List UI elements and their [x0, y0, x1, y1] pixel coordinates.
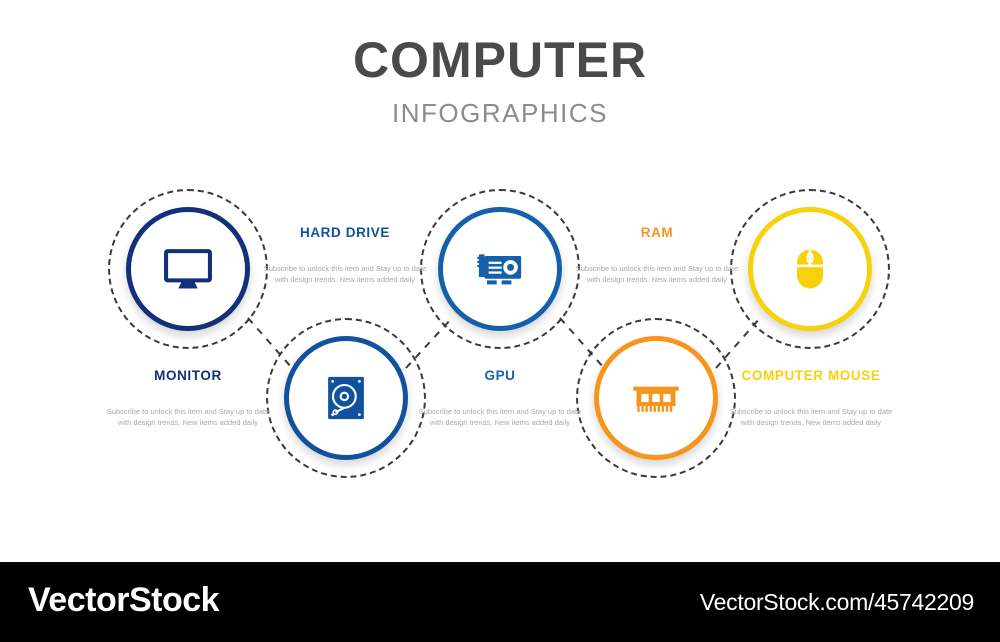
info-block-monitor: MONITOR Subscribe to unlock this item an… [103, 368, 273, 428]
hard-drive-circle[interactable] [284, 336, 408, 460]
gpu-circle[interactable] [438, 207, 562, 331]
monitor-circle[interactable] [126, 207, 250, 331]
node-computer-mouse[interactable] [730, 189, 890, 349]
node-ram[interactable] [576, 318, 736, 478]
description-ram: Subscribe to unlock this item and Stay u… [572, 240, 742, 285]
info-block-hard-drive: HARD DRIVE Subscribe to unlock this item… [260, 225, 430, 285]
node-monitor[interactable] [108, 189, 268, 349]
info-block-computer-mouse: COMPUTER MOUSE Subscribe to unlock this … [726, 368, 896, 428]
computer-mouse-circle[interactable] [748, 207, 872, 331]
description-hard-drive: Subscribe to unlock this item and Stay u… [260, 240, 430, 285]
description-monitor: Subscribe to unlock this item and Stay u… [103, 383, 273, 428]
node-gpu[interactable] [420, 189, 580, 349]
info-block-gpu: GPU Subscribe to unlock this item and St… [415, 368, 585, 428]
infographic-diagram: MONITOR Subscribe to unlock this item an… [0, 0, 1000, 555]
label-monitor: MONITOR [103, 368, 273, 383]
vectorstock-url: VectorStock.com/45742209 [700, 589, 974, 616]
label-ram: RAM [572, 225, 742, 240]
description-computer-mouse: Subscribe to unlock this item and Stay u… [726, 383, 896, 428]
ram-circle[interactable] [594, 336, 718, 460]
label-gpu: GPU [415, 368, 585, 383]
monitor-icon [162, 243, 214, 295]
description-gpu: Subscribe to unlock this item and Stay u… [415, 383, 585, 428]
ram-icon [630, 372, 682, 424]
node-hard-drive[interactable] [266, 318, 426, 478]
mouse-icon [784, 243, 836, 295]
gpu-icon [474, 243, 526, 295]
vectorstock-logo: VectorStock [28, 581, 219, 620]
label-hard-drive: HARD DRIVE [260, 225, 430, 240]
watermark-bar: VectorStock VectorStock.com/45742209 [0, 562, 1000, 642]
label-computer-mouse: COMPUTER MOUSE [726, 368, 896, 383]
hard-drive-icon [320, 372, 372, 424]
info-block-ram: RAM Subscribe to unlock this item and St… [572, 225, 742, 285]
